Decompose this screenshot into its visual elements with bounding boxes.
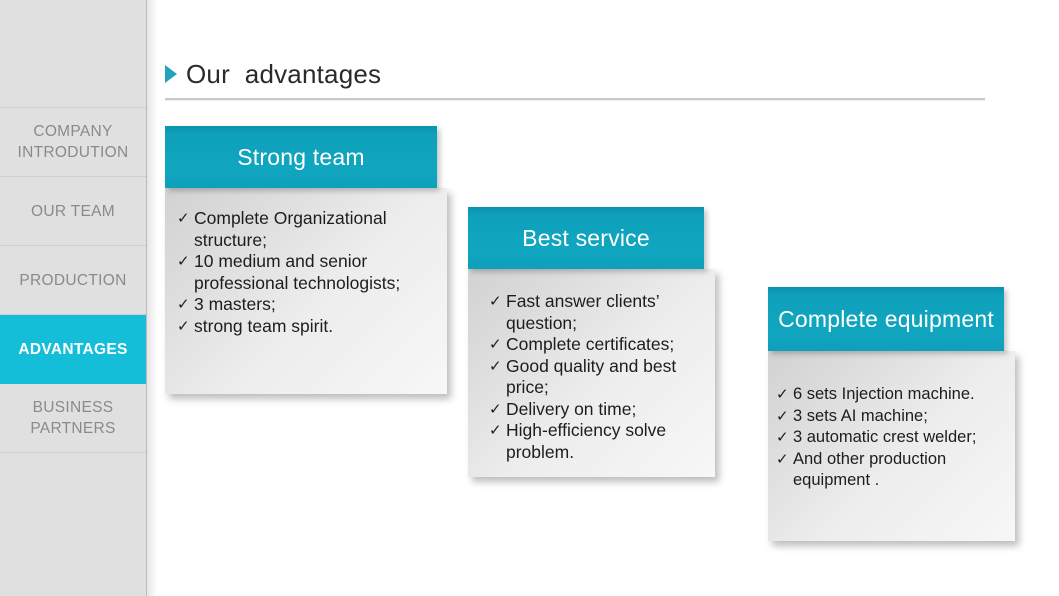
check-icon: ✓ xyxy=(489,420,506,463)
list-item-text: Complete Organizational structure; xyxy=(194,208,433,251)
check-icon: ✓ xyxy=(489,399,506,421)
list-item: ✓ Complete Organizational structure; xyxy=(177,208,433,251)
list-item: ✓ 3 masters; xyxy=(177,294,433,316)
list-item-text: 3 automatic crest welder; xyxy=(793,427,1005,449)
list-item-text: 3 masters; xyxy=(194,294,433,316)
list-item: ✓ Complete certificates; xyxy=(489,334,703,356)
list-item: ✓ Fast answer clients’ question; xyxy=(489,291,703,334)
check-icon: ✓ xyxy=(177,316,194,338)
card-title: Complete equipment xyxy=(778,304,994,334)
card-bullet-list: ✓ Fast answer clients’ question; ✓ Compl… xyxy=(489,291,703,463)
check-icon: ✓ xyxy=(177,251,194,294)
check-icon: ✓ xyxy=(776,406,793,428)
page-title: Our advantages xyxy=(186,59,381,90)
card-bullet-list: ✓ 6 sets Injection machine. ✓ 3 sets AI … xyxy=(776,384,1005,491)
page-title-block: Our advantages xyxy=(165,56,985,100)
sidebar-logo-spacer xyxy=(0,0,146,108)
card-header: Strong team xyxy=(165,126,437,188)
card-body: ✓ Fast answer clients’ question; ✓ Compl… xyxy=(468,269,715,477)
list-item-text: Fast answer clients’ question; xyxy=(506,291,703,334)
check-icon: ✓ xyxy=(489,334,506,356)
sidebar-item-advantages[interactable]: ADVANTAGES xyxy=(0,315,146,384)
check-icon: ✓ xyxy=(776,427,793,449)
list-item-text: 3 sets AI machine; xyxy=(793,406,1005,428)
sidebar-item-label: BUSINESS PARTNERS xyxy=(6,397,140,439)
card-header: Best service xyxy=(468,207,704,269)
advantage-card-best-service[interactable]: Best service ✓ Fast answer clients’ ques… xyxy=(468,207,715,477)
card-body: ✓ 6 sets Injection machine. ✓ 3 sets AI … xyxy=(768,351,1015,541)
sidebar-item-company-introdution[interactable]: COMPANY INTRODUTION xyxy=(0,108,146,177)
list-item: ✓ 3 sets AI machine; xyxy=(776,406,1005,428)
check-icon: ✓ xyxy=(177,208,194,251)
sidebar-bottom-filler xyxy=(0,453,146,591)
list-item-text: High-efficiency solve problem. xyxy=(506,420,703,463)
sidebar-item-label: COMPANY INTRODUTION xyxy=(6,121,140,163)
check-icon: ✓ xyxy=(489,356,506,399)
list-item-text: Complete certificates; xyxy=(506,334,703,356)
card-title: Strong team xyxy=(237,142,365,172)
check-icon: ✓ xyxy=(177,294,194,316)
list-item: ✓ Delivery on time; xyxy=(489,399,703,421)
list-item-text: Delivery on time; xyxy=(506,399,703,421)
list-item: ✓ High-efficiency solve problem. xyxy=(489,420,703,463)
sidebar-item-label: PRODUCTION xyxy=(19,270,126,291)
triangle-right-icon xyxy=(165,65,177,83)
sidebar-item-label: ADVANTAGES xyxy=(18,339,127,360)
title-divider xyxy=(165,98,985,100)
list-item: ✓ strong team spirit. xyxy=(177,316,433,338)
sidebar-item-production[interactable]: PRODUCTION xyxy=(0,246,146,315)
list-item-text: And other production equipment . xyxy=(793,449,1005,491)
list-item-text: 10 medium and senior professional techno… xyxy=(194,251,433,294)
list-item: ✓ And other production equipment . xyxy=(776,449,1005,491)
list-item: ✓ 6 sets Injection machine. xyxy=(776,384,1005,406)
check-icon: ✓ xyxy=(776,384,793,406)
list-item-text: 6 sets Injection machine. xyxy=(793,384,1005,406)
list-item: ✓ 3 automatic crest welder; xyxy=(776,427,1005,449)
sidebar-item-label: OUR TEAM xyxy=(31,201,115,222)
advantage-card-strong-team[interactable]: Strong team ✓ Complete Organizational st… xyxy=(165,126,447,394)
advantage-card-complete-equipment[interactable]: Complete equipment ✓ 6 sets Injection ma… xyxy=(768,287,1015,541)
list-item-text: Good quality and best price; xyxy=(506,356,703,399)
list-item-text: strong team spirit. xyxy=(194,316,433,338)
check-icon: ✓ xyxy=(489,291,506,334)
card-bullet-list: ✓ Complete Organizational structure; ✓ 1… xyxy=(177,208,433,337)
sidebar-item-our-team[interactable]: OUR TEAM xyxy=(0,177,146,246)
page-title-row: Our advantages xyxy=(165,56,985,92)
card-body: ✓ Complete Organizational structure; ✓ 1… xyxy=(165,188,447,394)
card-title: Best service xyxy=(522,223,650,253)
sidebar-item-business-partners[interactable]: BUSINESS PARTNERS xyxy=(0,384,146,453)
list-item: ✓ 10 medium and senior professional tech… xyxy=(177,251,433,294)
sidebar-nav: COMPANY INTRODUTION OUR TEAM PRODUCTION … xyxy=(0,0,147,596)
check-icon: ✓ xyxy=(776,449,793,491)
list-item: ✓ Good quality and best price; xyxy=(489,356,703,399)
card-header: Complete equipment xyxy=(768,287,1004,351)
